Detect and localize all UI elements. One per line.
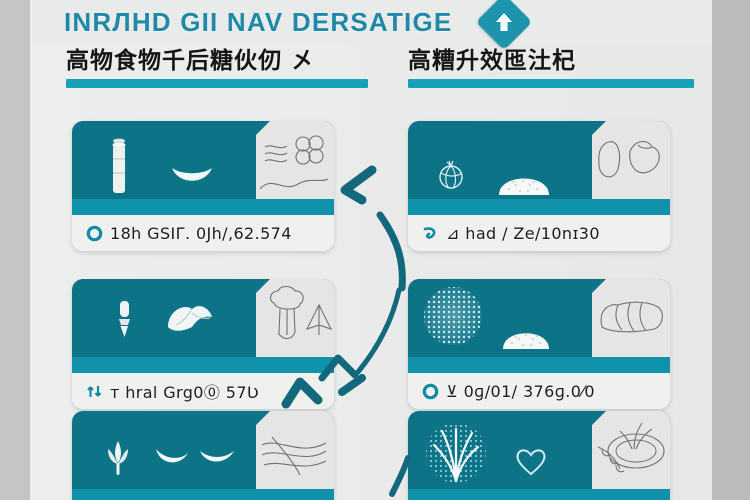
card-right-3[interactable] bbox=[408, 411, 670, 500]
card-caption-text: 18h GSIΓ. 0Jh/,62.574 bbox=[110, 224, 292, 243]
card-right-1[interactable]: ⊿ had / Ze/10nɪ30 bbox=[408, 121, 670, 251]
arrow-check-stroke bbox=[342, 378, 362, 392]
stacked-cup-icon bbox=[108, 137, 130, 202]
card-caption: ⊻ 0ɡ/01/ 376ɡ.0⁄0 bbox=[408, 373, 670, 409]
plate-herbs-sketch bbox=[594, 421, 668, 484]
two-crescents-icon bbox=[154, 445, 242, 476]
potato-pair-sketch bbox=[596, 135, 666, 194]
card-photo bbox=[72, 121, 334, 213]
up-arrow-icon bbox=[476, 0, 533, 50]
card-accent-bar bbox=[408, 489, 670, 500]
striped-ball-icon bbox=[436, 159, 466, 196]
arrow-curve-upper bbox=[380, 215, 402, 288]
page-title: INRЛHD GII NAV DERSATIGE bbox=[64, 7, 452, 38]
infographic-poster: INRЛHD GII NAV DERSATIGE 高物食物千后糖伙仞 㐅 高糟升… bbox=[0, 0, 750, 500]
up-arrow-glyph bbox=[484, 2, 524, 42]
card-caption-text: ⊻ 0ɡ/01/ 376ɡ.0⁄0 bbox=[446, 382, 595, 401]
bread-loaf-sketch bbox=[596, 297, 666, 344]
poster-header: INRЛHD GII NAV DERSATIGE bbox=[32, 0, 712, 44]
grape-cluster-sketch bbox=[292, 135, 328, 176]
heart-icon bbox=[514, 447, 548, 482]
card-accent-bar bbox=[72, 357, 334, 373]
column-rule-right bbox=[408, 79, 694, 88]
arrow-curve-tail bbox=[358, 290, 399, 372]
card-photo bbox=[408, 279, 670, 371]
card-accent-bar bbox=[72, 199, 334, 215]
rice-bowl-icon bbox=[169, 165, 215, 192]
arrow-bottom-tail bbox=[392, 458, 408, 494]
noodle-curve-sketch bbox=[258, 177, 330, 200]
rice-mound-icon bbox=[496, 163, 552, 202]
sprout-icon bbox=[102, 437, 134, 484]
card-right-2[interactable]: ⊻ 0ɡ/01/ 376ɡ.0⁄0 bbox=[408, 279, 670, 409]
card-left-2[interactable]: ᴛ hral Grg0⓪ 57Ʋ bbox=[72, 279, 334, 409]
spiral-icon bbox=[422, 225, 439, 242]
card-caption: 18h GSIΓ. 0Jh/,62.574 bbox=[72, 215, 334, 251]
wave-lines-sketch bbox=[263, 143, 289, 176]
card-caption: ⊿ had / Ze/10nɪ30 bbox=[408, 215, 670, 251]
column-heading-right: 高糟升效匜汢杞 bbox=[408, 46, 700, 94]
ginkgo-leaf-icon bbox=[162, 297, 216, 344]
up-down-bars-icon bbox=[86, 383, 103, 400]
column-heading-right-text: 高糟升效匜汢杞 bbox=[408, 46, 700, 76]
card-photo bbox=[408, 411, 670, 500]
broccoli-sketch bbox=[266, 285, 308, 348]
card-photo bbox=[72, 279, 334, 371]
card-photo bbox=[408, 121, 670, 213]
card-caption-text: ⊿ had / Ze/10nɪ30 bbox=[446, 224, 600, 243]
column-rule-left bbox=[66, 79, 368, 88]
column-heading-left: 高物食物千后糖伙仞 㐅 bbox=[66, 46, 376, 94]
ring-icon bbox=[422, 383, 439, 400]
card-accent-bar bbox=[408, 199, 670, 215]
card-caption-text: ᴛ hral Grg0⓪ 57Ʋ bbox=[110, 379, 259, 403]
card-photo bbox=[72, 411, 334, 500]
card-accent-bar bbox=[72, 489, 334, 500]
arrow-top-left bbox=[345, 170, 372, 200]
noodle-strands-sketch bbox=[260, 435, 330, 484]
card-caption: ᴛ hral Grg0⓪ 57Ʋ bbox=[72, 373, 334, 409]
dotted-circle-icon bbox=[422, 285, 484, 352]
card-left-3[interactable] bbox=[72, 411, 334, 500]
card-sketch-panel bbox=[592, 411, 670, 500]
leaf-sketch bbox=[304, 303, 334, 342]
card-sketch-panel bbox=[256, 411, 334, 500]
bulb-icon bbox=[114, 299, 134, 350]
column-heading-left-text: 高物食物千后糖伙仞 㐅 bbox=[66, 46, 376, 76]
rice-mound-icon bbox=[500, 319, 552, 356]
card-left-1[interactable]: 18h GSIΓ. 0Jh/,62.574 bbox=[72, 121, 334, 251]
card-accent-bar bbox=[408, 357, 670, 373]
wheat-burst-icon bbox=[424, 419, 488, 492]
ring-icon bbox=[86, 225, 103, 242]
